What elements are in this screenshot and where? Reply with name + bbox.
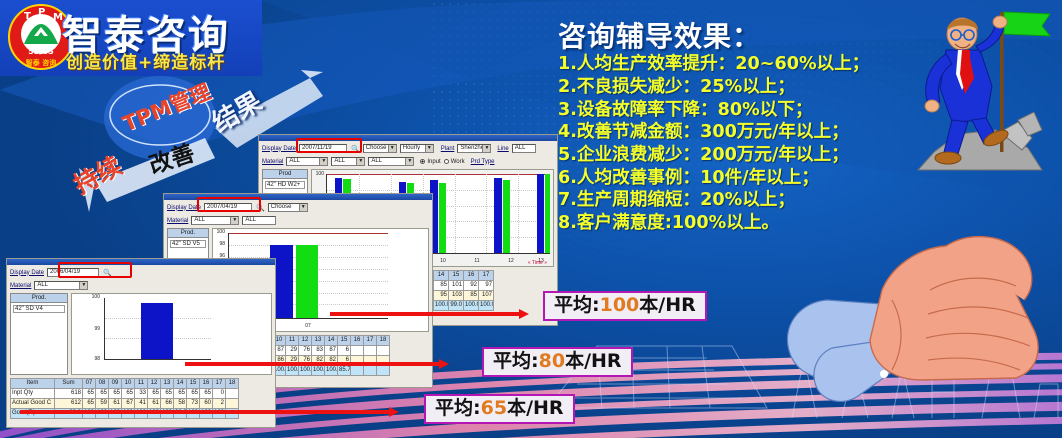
average-value: 80 [539,350,565,372]
product-item[interactable]: 42" SD V5 [170,240,206,248]
line-label: Line [497,146,508,152]
average-label: 平均: [554,294,600,316]
y-tick-100: 100 [86,294,100,300]
th-15: 15 [338,336,351,346]
svg-text:5S/6S: 5S/6S [28,47,54,56]
plant-value: Shenzhe [460,144,484,153]
chevron-down-icon[interactable]: ▼ [482,145,490,152]
table-row: Actual Good C 612 65 59 61 67 41 61 66 5… [11,399,277,409]
th-12: 12 [299,336,312,346]
hourly-dropdown[interactable]: Hourly▼ [400,144,434,153]
th-11: 11 [135,379,148,389]
radio-work-icon[interactable] [444,159,449,164]
plant-dropdown[interactable]: Shenzhe▼ [457,144,491,153]
x-tick-12: 12 [496,258,526,264]
y-tick-98: 98 [213,241,225,247]
effect-item-3: 3.设备故障率下降：80%以下； [558,99,958,122]
choose-dropdown[interactable]: Choose▼ [268,203,308,212]
th-18: 18 [377,336,390,346]
average-value: 65 [481,397,507,419]
th-14: 14 [325,336,338,346]
time-axis-note: « Time » [528,260,547,266]
material-value: ALL [289,157,300,166]
th-11: 11 [286,336,299,346]
effect-item-5: 5.企业浪费减少：200万元/年以上； [558,144,958,167]
radio-input-label: Input [427,159,440,165]
average-value: 100 [600,294,640,316]
th-15: 15 [187,379,200,389]
display-date-value: 2007/04/19 [207,203,237,212]
chart-plot-area-p1 [104,298,211,360]
th-09: 09 [109,379,122,389]
prd-type-label: Prd Type [471,159,495,165]
th-17: 17 [213,379,226,389]
material-dropdown[interactable]: ALL▼ [286,157,328,166]
filter3-dropdown[interactable]: ALL▼ [368,157,414,166]
product-item[interactable]: 42" HD W2+ [265,181,305,189]
display-date-input[interactable]: 2007/11/19 [299,144,347,153]
th-12: 12 [148,379,161,389]
display-date-label: Display Date [10,270,44,276]
th-14: 14 [434,271,449,281]
table-row: Inpt Qty 618 65 65 65 65 33 65 65 65 65 … [11,389,277,399]
window-titlebar [7,259,275,265]
average-label: 平均: [435,397,481,419]
material-value: ALL [37,281,48,290]
th-10: 10 [122,379,135,389]
window-titlebar [164,194,432,200]
effect-item-1: 1.人均生产效率提升：20~60%以上； [558,53,958,76]
filter2-dropdown[interactable]: ALL▼ [331,157,365,166]
window-titlebar [259,135,557,141]
filter2-box[interactable]: ALL [242,216,276,225]
filter2-value: ALL [334,157,345,166]
y-tick-100: 100 [213,229,225,235]
average-unit: 本/HR [507,397,563,419]
chevron-down-icon[interactable]: ▼ [388,145,396,152]
display-date-value: 2006/04/19 [50,268,80,277]
effect-item-6: 6.人均改善事例：10件/年以上； [558,167,958,190]
th-item: Item [11,379,55,389]
clapping-hands-illustration [732,230,1062,410]
search-icon[interactable]: 🔍 [351,145,360,153]
svg-text:T: T [24,11,31,22]
product-column-header: Prod. [11,294,67,303]
product-column-header: Prod [263,170,307,179]
filter2-value: ALL [245,216,256,225]
material-dropdown[interactable]: ALL▼ [34,281,88,290]
effect-item-4: 4.改善节减金额：300万元/年以上； [558,121,958,144]
average-callout-100: 平均:100本/HR [543,291,707,321]
brand-subtitle: 创造价值+缔造标杆 [66,48,225,73]
effect-item-2: 2.不良损失减少：25%以上； [558,76,958,99]
display-date-label: Display Date [167,205,201,211]
x-tick-11: 11 [462,258,492,264]
line-value: ALL [515,144,526,153]
th-sum: Sum [55,379,83,389]
display-date-label: Display Date [262,146,296,152]
target-line [327,174,550,175]
chevron-down-icon[interactable]: ▼ [79,282,87,289]
choose-dropdown[interactable]: Choose▼ [363,144,397,153]
search-icon[interactable]: 🔍 [256,204,265,212]
hourly-value: Hourly [403,144,420,153]
search-icon[interactable]: 🔍 [103,269,112,277]
material-value: ALL [194,216,205,225]
chevron-down-icon[interactable]: ▼ [356,158,364,165]
radio-work[interactable]: Work [444,159,465,165]
chevron-down-icon[interactable]: ▼ [319,158,327,165]
th-07: 07 [83,379,96,389]
y-tick-98: 98 [86,356,100,362]
choose-value: Choose [366,144,387,153]
display-date-input[interactable]: 2007/04/19 [204,203,252,212]
th-16: 16 [351,336,364,346]
material-dropdown[interactable]: ALL▼ [191,216,239,225]
row-label-actual-good: Actual Good C [11,399,55,409]
chevron-down-icon[interactable]: ▼ [230,217,238,224]
report-window-2006-04[interactable]: Display Date 2006/04/19 🔍 Material ALL▼ … [6,258,276,428]
radio-input[interactable]: Input [420,159,440,165]
th-16: 16 [200,379,213,389]
display-date-value: 2007/11/19 [302,144,332,153]
trend-arrow-p1 [20,410,390,414]
chevron-down-icon[interactable]: ▼ [425,145,433,152]
table-header-row: Item Sum 07 08 09 10 11 12 13 14 15 16 1… [11,379,277,389]
product-item[interactable]: 42" SD V4 [13,305,65,313]
th-18: 18 [226,379,239,389]
th-15: 15 [449,271,464,281]
th-13: 13 [312,336,325,346]
radio-work-label: Work [451,159,465,165]
th-14: 14 [174,379,187,389]
material-label: Material [10,283,31,289]
product-column-header: Prod. [168,229,208,238]
choose-value: Choose [271,203,292,212]
product-list-p1[interactable]: Prod. 42" SD V4 [10,293,68,375]
line-value-box[interactable]: ALL [512,144,536,153]
effect-item-7: 7.生产周期缩短：20%以上； [558,189,958,212]
row-label-input-qty: Inpt Qty [11,389,55,399]
material-label: Material [262,159,283,165]
th-13: 13 [161,379,174,389]
th-16: 16 [464,271,479,281]
th-17: 17 [479,271,494,281]
average-unit: 本/HR [565,350,621,372]
y-tick-99: 99 [86,326,100,332]
effects-title: 咨询辅导效果： [558,22,958,52]
display-date-input[interactable]: 2006/04/19 [47,268,99,277]
target-line [229,233,388,234]
svg-text:P: P [38,7,45,18]
material-label: Material [167,218,188,224]
average-callout-65: 平均:65本/HR [424,394,575,424]
filter3-value: ALL [371,157,382,166]
consulting-effects-panel: 咨询辅导效果： 1.人均生产效率提升：20~60%以上； 2.不良损失减少：25… [558,22,958,235]
trend-arrow-p2 [185,362,440,366]
plant-label: Plant [441,146,455,152]
average-label: 平均: [493,350,539,372]
average-unit: 本/HR [639,294,695,316]
chevron-down-icon[interactable]: ▼ [299,204,307,211]
y-tick-100: 100 [312,171,324,177]
svg-text:智泰 咨询: 智泰 咨询 [26,58,56,67]
average-callout-80: 平均:80本/HR [482,347,633,377]
th-08: 08 [96,379,109,389]
radio-input-icon[interactable] [420,159,425,164]
effect-item-8: 8.客户满意度:100%以上。 [558,212,958,235]
th-17: 17 [364,336,377,346]
chevron-down-icon[interactable]: ▼ [405,158,413,165]
trend-arrow-p3 [330,312,520,316]
